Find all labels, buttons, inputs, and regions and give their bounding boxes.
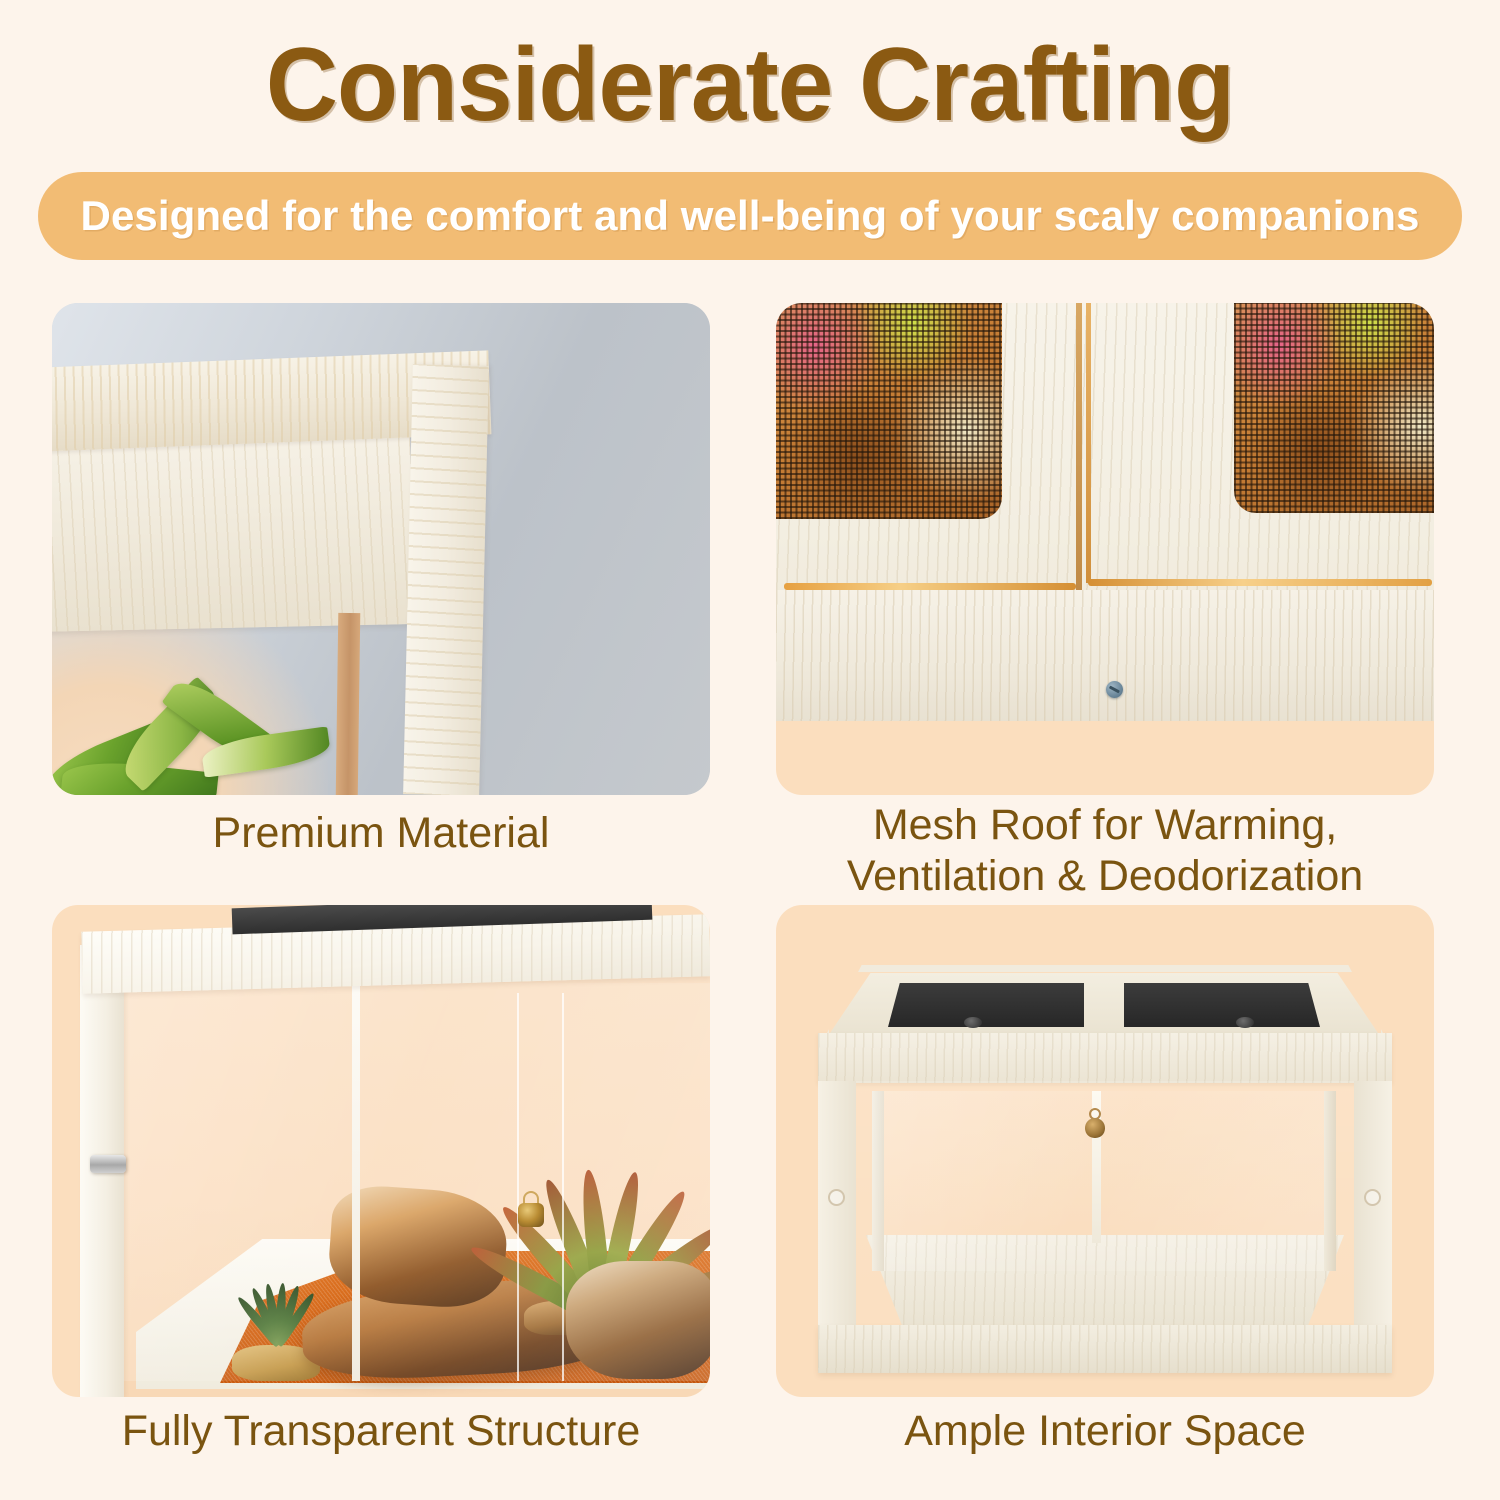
screw-icon — [1106, 681, 1123, 698]
wood-plank — [52, 434, 414, 632]
caption-fully-transparent-structure: Fully Transparent Structure — [52, 1406, 710, 1457]
glass-edge-line — [562, 993, 564, 1381]
mesh-panel-left — [776, 303, 1002, 519]
gold-trim-vertical — [1086, 303, 1091, 583]
vent-hole-right — [1364, 1189, 1381, 1206]
lid-knob-left[interactable] — [964, 1017, 982, 1028]
door-knob[interactable] — [90, 1155, 126, 1173]
side-panel-left — [818, 1081, 856, 1331]
gold-trim-right — [1088, 579, 1432, 586]
caption-premium-material: Premium Material — [52, 808, 710, 859]
center-seam — [1076, 303, 1082, 599]
upper-rim-band — [818, 1033, 1392, 1083]
caption-line: Ventilation & Deodorization — [776, 851, 1434, 902]
lower-wood-band — [776, 590, 1434, 721]
caption-line: Fully Transparent Structure — [52, 1406, 710, 1457]
feature-image-ample-interior-space — [776, 905, 1434, 1397]
feature-image-premium-material — [52, 303, 710, 795]
brass-lock-icon[interactable] — [518, 1197, 544, 1227]
side-panel-right — [1354, 1081, 1392, 1331]
glass-door-panel[interactable] — [124, 983, 710, 1381]
gold-trim-left — [784, 583, 1076, 590]
lock-body — [518, 1203, 544, 1227]
vent-hole-left — [828, 1189, 845, 1206]
latch-body — [1085, 1118, 1105, 1138]
page-title: Considerate Crafting — [30, 26, 1470, 145]
feature-image-fully-transparent-structure — [52, 905, 710, 1397]
subtitle-text: Designed for the comfort and well-being … — [81, 192, 1420, 240]
top-frame — [822, 965, 1388, 1043]
inner-tan-bar — [336, 613, 361, 795]
caption-line: Mesh Roof for Warming, — [776, 800, 1434, 851]
wood-corner-post — [403, 364, 489, 795]
feature-image-mesh-roof — [776, 303, 1434, 795]
caption-line: Premium Material — [52, 808, 710, 859]
caption-ample-interior-space: Ample Interior Space — [776, 1406, 1434, 1457]
lid-knob-right[interactable] — [1236, 1017, 1254, 1028]
caption-mesh-roof: Mesh Roof for Warming, Ventilation & Deo… — [776, 800, 1434, 901]
subtitle-banner: Designed for the comfort and well-being … — [38, 172, 1462, 260]
base-trim — [818, 1325, 1392, 1373]
mesh-panel-right — [1234, 303, 1434, 513]
caption-line: Ample Interior Space — [776, 1406, 1434, 1457]
door-mullion — [352, 983, 360, 1381]
glass-edge-line — [517, 993, 519, 1381]
infographic-page: Considerate Crafting Designed for the co… — [0, 0, 1500, 1500]
latch-icon[interactable] — [1084, 1109, 1106, 1137]
